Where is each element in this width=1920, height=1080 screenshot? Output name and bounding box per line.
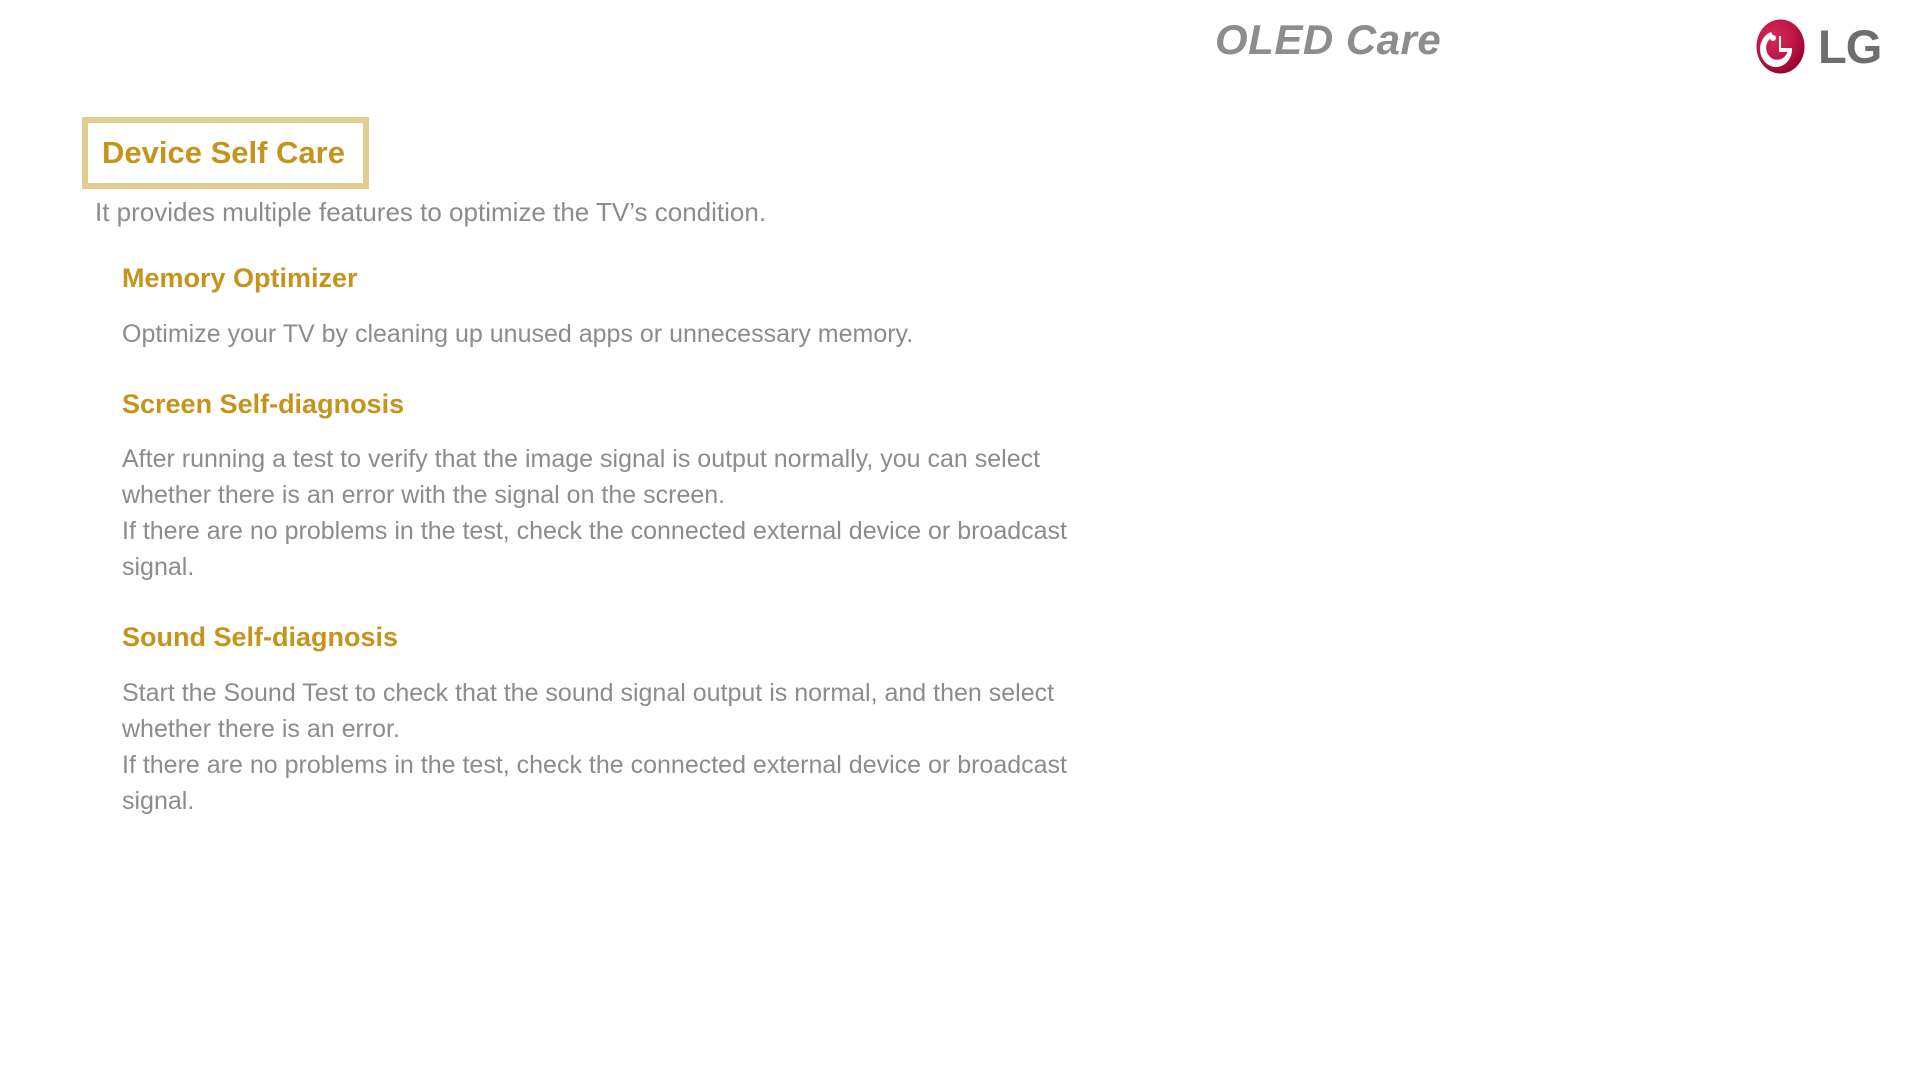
section-sound-self-diagnosis: Sound Self-diagnosis Start the Sound Tes…: [122, 623, 1222, 819]
page-title-box: Device Self Care: [82, 117, 369, 189]
page-header: OLED Care LG: [0, 0, 1920, 110]
section-heading: Sound Self-diagnosis: [122, 623, 1222, 653]
lg-logo: LG: [1752, 18, 1881, 75]
feature-sections: Memory Optimizer Optimize your TV by cle…: [122, 264, 1222, 857]
lg-logo-mark-icon: [1752, 18, 1809, 75]
page-title: Device Self Care: [102, 137, 345, 168]
section-screen-self-diagnosis: Screen Self-diagnosis After running a te…: [122, 390, 1222, 586]
body-line: After running a test to verify that the …: [122, 441, 1122, 513]
section-heading: Memory Optimizer: [122, 264, 1222, 294]
intro-description: It provides multiple features to optimiz…: [95, 197, 766, 228]
lg-wordmark: LG: [1818, 23, 1881, 70]
body-line: Start the Sound Test to check that the s…: [122, 675, 1122, 747]
section-body: Optimize your TV by cleaning up unused a…: [122, 316, 1222, 352]
section-memory-optimizer: Memory Optimizer Optimize your TV by cle…: [122, 264, 1222, 352]
body-line: If there are no problems in the test, ch…: [122, 513, 1122, 585]
brand-title: OLED Care: [1215, 16, 1441, 64]
section-body: Start the Sound Test to check that the s…: [122, 675, 1222, 819]
body-line: Optimize your TV by cleaning up unused a…: [122, 316, 1122, 352]
body-line: If there are no problems in the test, ch…: [122, 747, 1122, 819]
section-body: After running a test to verify that the …: [122, 441, 1222, 585]
section-heading: Screen Self-diagnosis: [122, 390, 1222, 420]
